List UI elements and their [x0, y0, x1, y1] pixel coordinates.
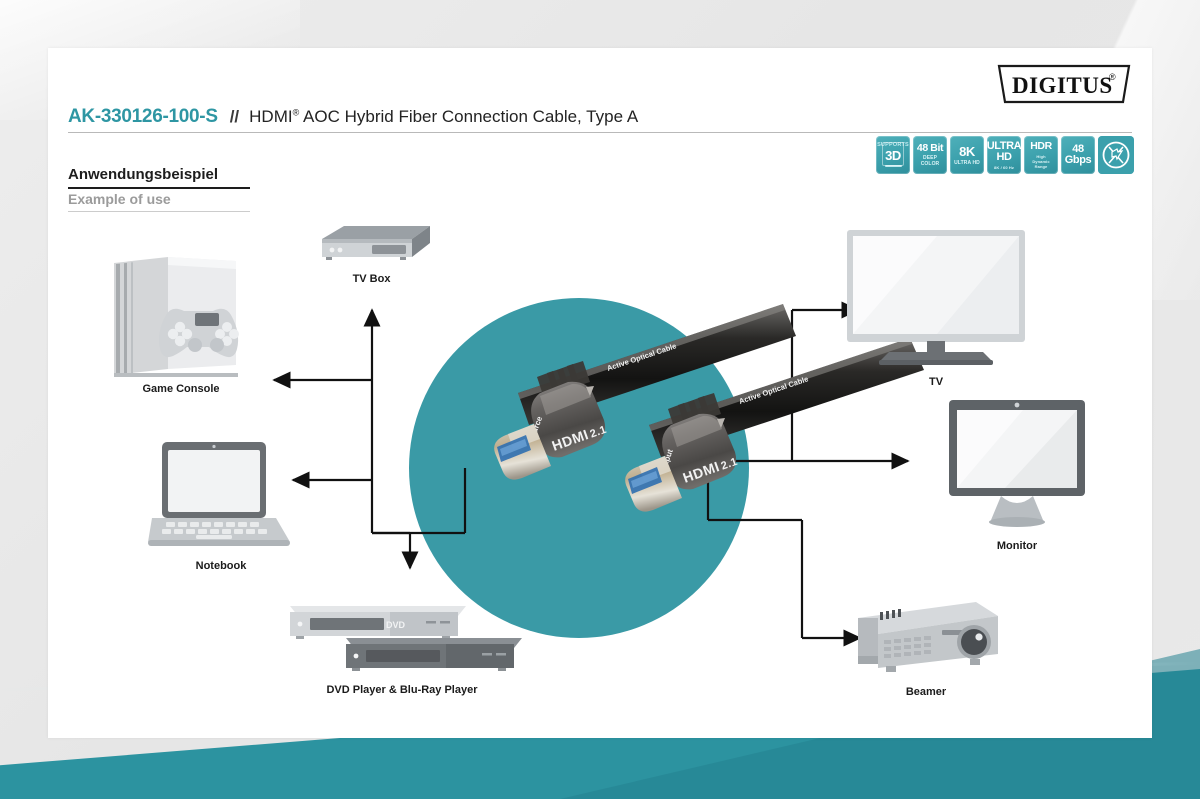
- dvd-bluray-icon: DVD: [280, 598, 524, 678]
- device-label-monitor: Monitor: [997, 540, 1037, 552]
- device-label-tv-box: TV Box: [353, 273, 391, 285]
- device-dvd-bluray: DVD DVD: [280, 598, 524, 703]
- gamepad-icon: [159, 309, 239, 357]
- device-label-game-console: Game Console: [142, 383, 219, 395]
- device-label-tv: TV: [929, 376, 943, 388]
- game-console-icon: [106, 253, 256, 383]
- usage-diagram: Active Optical Cable HDMI2.1 Source: [48, 48, 1152, 738]
- bluray-player-icon: [346, 638, 522, 671]
- device-notebook: Notebook: [148, 438, 294, 578]
- device-label-notebook: Notebook: [196, 560, 247, 572]
- device-game-console: Game Console: [106, 253, 256, 393]
- device-tv-box: TV Box: [312, 223, 436, 283]
- device-label-dvd-bluray: DVD Player & Blu-Ray Player: [326, 684, 477, 696]
- device-tv: TV: [841, 228, 1031, 388]
- beamer-icon: [850, 596, 1002, 678]
- tv-icon: [841, 228, 1031, 368]
- tv-box-icon: [312, 223, 436, 269]
- notebook-icon: [148, 438, 294, 554]
- device-beamer: Beamer: [850, 596, 1002, 701]
- dvd-player-icon: DVD: [290, 606, 466, 639]
- device-label-beamer: Beamer: [906, 686, 946, 698]
- dvd-disc-label: DVD: [386, 620, 406, 630]
- device-monitor: Monitor: [945, 398, 1089, 553]
- content-card: DIGITUS ® AK-330126-100-S // HDMI® AOC H…: [48, 48, 1152, 738]
- monitor-icon: [945, 398, 1089, 532]
